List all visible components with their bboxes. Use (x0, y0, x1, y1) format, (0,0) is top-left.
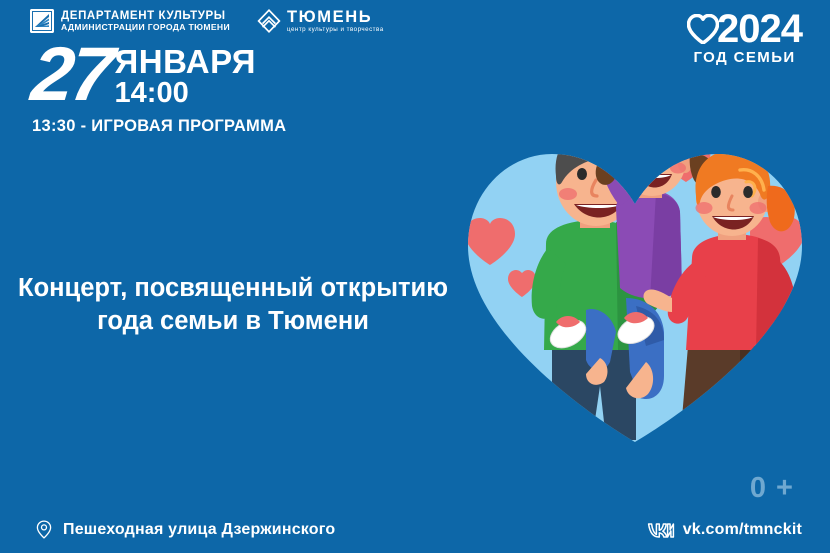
department-line2: АДМИНИСТРАЦИИ ГОРОДА ТЮМЕНИ (61, 23, 230, 32)
header-logos: ДЕПАРТАМЕНТ КУЛЬТУРЫ АДМИНИСТРАЦИИ ГОРОД… (30, 8, 384, 34)
event-date-block: 27 ЯНВАРЯ 14:00 13:30 - ИГРОВАЯ ПРОГРАММ… (32, 44, 286, 136)
age-rating: 0 + (750, 472, 794, 505)
event-day: 27 (29, 44, 114, 106)
vk-url[interactable]: vk.com/tmnckit (683, 521, 802, 539)
tyumen-center-logo: ТЮМЕНЬ центр культуры и творчества (256, 8, 384, 34)
title-line-1: Концерт, посвященный открытию (0, 272, 466, 305)
year-badge-row: 2024 (687, 10, 802, 48)
page-title: Концерт, посвященный открытию года семьи… (0, 272, 466, 337)
tyumen-line1: ТЮМЕНЬ (287, 9, 384, 26)
tyumen-rhombus-icon (256, 8, 282, 34)
department-line1: ДЕПАРТАМЕНТ КУЛЬТУРЫ (61, 10, 230, 22)
vk-icon (647, 522, 675, 539)
department-logo: ДЕПАРТАМЕНТ КУЛЬТУРЫ АДМИНИСТРАЦИИ ГОРОД… (30, 9, 230, 33)
map-pin-icon (36, 520, 52, 539)
heart-icon (687, 14, 719, 44)
department-logo-text: ДЕПАРТАМЕНТ КУЛЬТУРЫ АДМИНИСТРАЦИИ ГОРОД… (61, 10, 230, 31)
event-time: 14:00 (115, 79, 256, 108)
family-in-heart-illustration (440, 110, 830, 450)
date-right-column: ЯНВАРЯ 14:00 (115, 44, 256, 108)
event-month: ЯНВАРЯ (115, 48, 256, 76)
department-emblem-icon (30, 9, 54, 33)
venue-row: Пешеходная улица Дзержинского (36, 520, 335, 539)
title-line-2: года семьи в Тюмени (0, 305, 466, 338)
year-subtitle: ГОД СЕМЬИ (687, 49, 802, 66)
venue-address: Пешеходная улица Дзержинского (63, 521, 335, 539)
tyumen-line2: центр культуры и творчества (287, 27, 384, 33)
poster-canvas: ДЕПАРТАМЕНТ КУЛЬТУРЫ АДМИНИСТРАЦИИ ГОРОД… (0, 0, 830, 553)
year-number: 2024 (717, 10, 802, 48)
tyumen-logo-text: ТЮМЕНЬ центр культуры и творчества (287, 9, 384, 34)
date-row: 27 ЯНВАРЯ 14:00 (32, 44, 286, 108)
pre-program-text: 13:30 - ИГРОВАЯ ПРОГРАММА (32, 117, 286, 136)
year-of-family-badge: 2024 ГОД СЕМЬИ (687, 10, 802, 66)
vk-link-row[interactable]: vk.com/tmnckit (647, 521, 802, 539)
